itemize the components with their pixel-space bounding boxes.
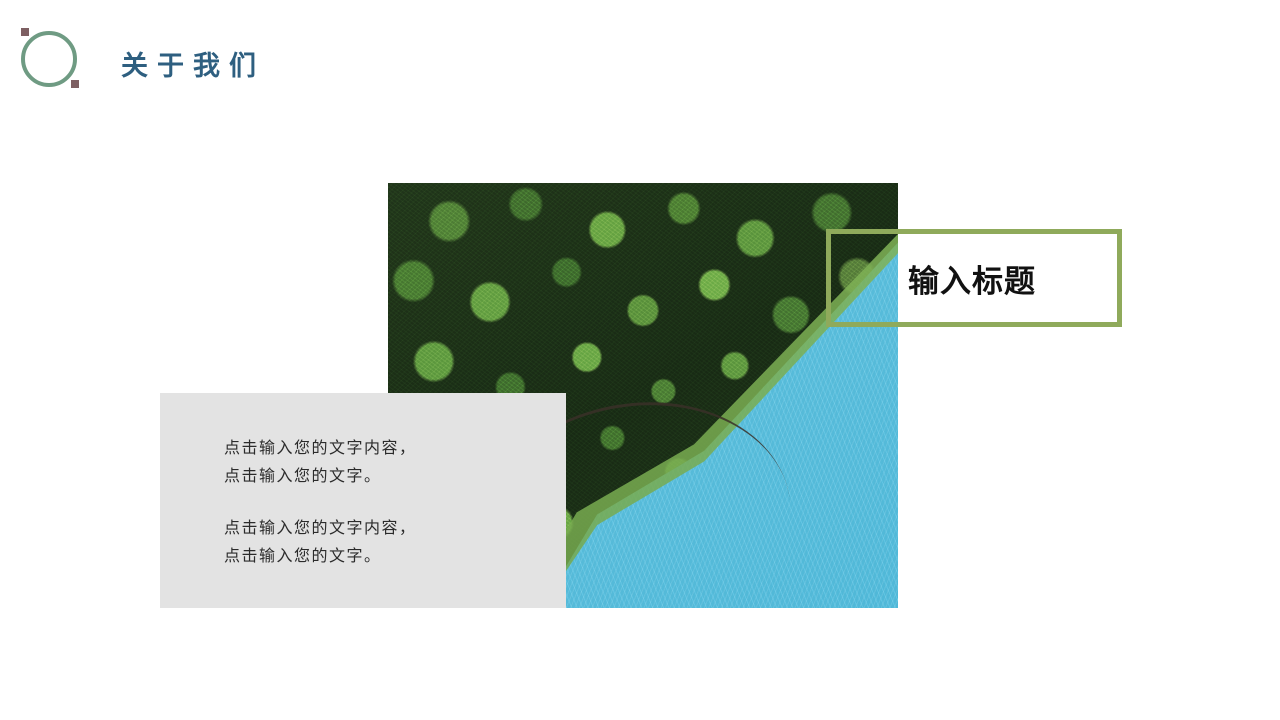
slide-canvas: 关于我们 输入标题 点击输入您的文字内容， 点击输入您的文字。 点击输入您的文字… — [0, 0, 1280, 720]
page-title: 关于我们 — [121, 44, 265, 83]
body-paragraph-2: 点击输入您的文字内容， 点击输入您的文字。 — [224, 515, 524, 571]
title-frame: 输入标题 — [826, 229, 1122, 327]
section-heading: 输入标题 — [908, 234, 1036, 322]
body-paragraph-1: 点击输入您的文字内容， 点击输入您的文字。 — [224, 435, 524, 491]
body-copy: 点击输入您的文字内容， 点击输入您的文字。 点击输入您的文字内容， 点击输入您的… — [224, 435, 524, 571]
logo-mark — [18, 27, 82, 91]
square-accent-icon-bottom-right — [71, 80, 79, 88]
body-panel: 点击输入您的文字内容， 点击输入您的文字。 点击输入您的文字内容， 点击输入您的… — [160, 393, 566, 608]
square-accent-icon-top-left — [21, 28, 29, 36]
circle-outline-icon — [21, 31, 77, 87]
